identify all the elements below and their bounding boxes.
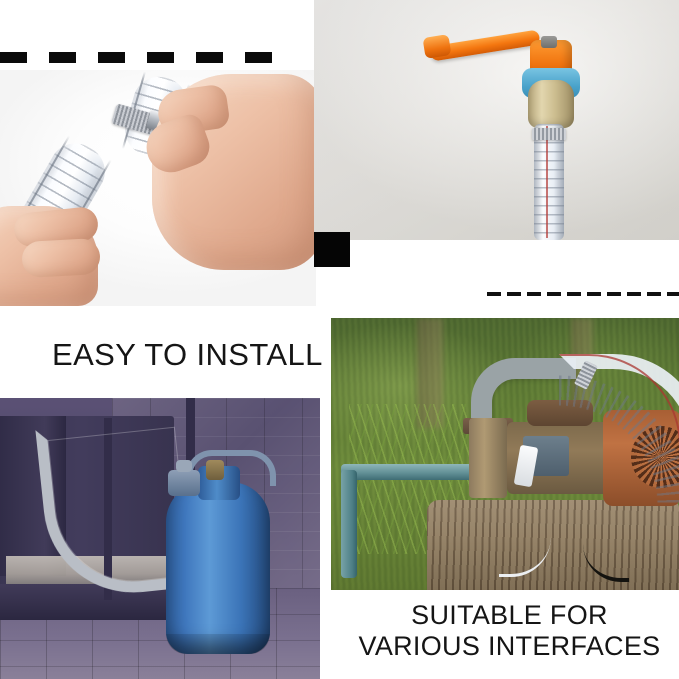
cylinder-valve-knob xyxy=(176,460,192,472)
panel-ball-valve xyxy=(314,0,679,240)
white-power-cable xyxy=(499,464,551,577)
black-accent-square xyxy=(314,232,350,267)
caption-easy-to-install: EASY TO INSTALL xyxy=(52,338,323,372)
valve-stem-nut xyxy=(541,36,557,48)
caption-line-2: VARIOUS INTERFACES xyxy=(340,631,679,662)
caption-line-1: SUITABLE FOR xyxy=(340,600,679,631)
clear-reinforced-hose xyxy=(534,124,564,240)
cylinder-regulator xyxy=(206,460,224,480)
thick-dashed-rule xyxy=(0,52,286,63)
thin-dashed-rule-lead-dot xyxy=(487,292,491,296)
blue-inlet-pipe-riser xyxy=(341,470,357,578)
hose-red-stripe xyxy=(546,126,548,238)
panel-easy-to-install xyxy=(0,0,316,306)
cylinder-valve xyxy=(168,470,200,496)
valve-brass-body xyxy=(528,80,574,128)
valve-handle-grip xyxy=(423,34,452,59)
hose-clamp-band xyxy=(532,128,566,140)
thin-dashed-rule xyxy=(487,292,679,296)
lpg-gas-cylinder xyxy=(166,482,270,654)
caption-suitable-for-various-interfaces: SUITABLE FOR VARIOUS INTERFACES xyxy=(340,600,679,662)
panel-water-pump xyxy=(331,318,679,590)
cylinder-base-band xyxy=(166,634,270,654)
blue-inlet-pipe xyxy=(341,464,481,480)
left-finger-lower xyxy=(21,238,101,278)
panel-gas-cylinder xyxy=(0,398,320,679)
product-infographic: EASY TO INSTALL xyxy=(0,0,679,679)
